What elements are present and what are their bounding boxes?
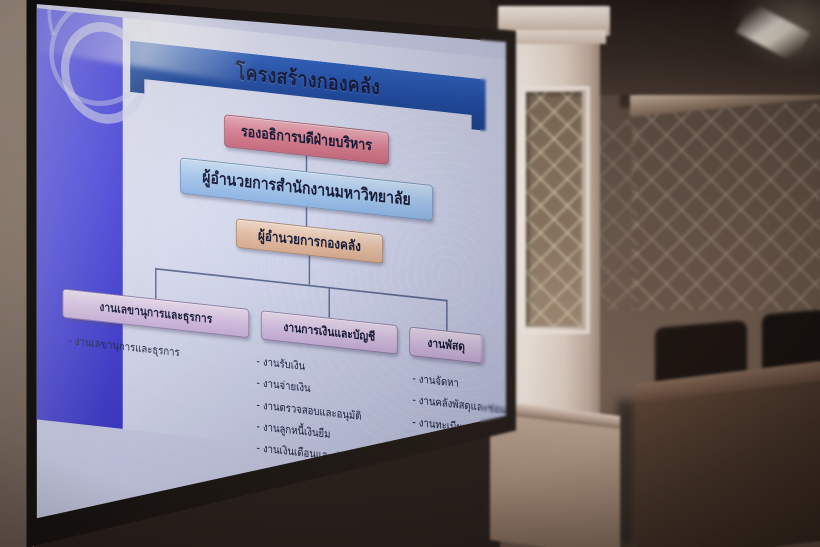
org-node-finance-accounting: งานการเงินและบัญชี bbox=[261, 310, 398, 354]
connector-vertical bbox=[309, 256, 310, 285]
pillar-inset-frame bbox=[520, 86, 590, 334]
slide-canvas: โครงสร้างกองคลัง รองอธิการบดีฝ่ายบริหาร … bbox=[36, 8, 506, 471]
pillar-capital-lower bbox=[502, 30, 606, 44]
photo-scene: โครงสร้างกองคลัง รองอธิการบดีฝ่ายบริหาร … bbox=[0, 0, 820, 547]
connector-vertical bbox=[306, 156, 307, 172]
connector-drop bbox=[329, 287, 330, 318]
connector-vertical bbox=[306, 207, 307, 226]
connector-drop bbox=[155, 268, 156, 299]
presentation-display[interactable]: โครงสร้างกองคลัง รองอธิการบดีฝ่ายบริหาร … bbox=[34, 2, 506, 542]
wall-lattice-panel bbox=[632, 104, 820, 310]
desk-front-panel bbox=[636, 380, 820, 547]
connector-horizontal bbox=[155, 268, 448, 302]
slide-title: โครงสร้างกองคลัง bbox=[130, 41, 486, 118]
slide-sidebar bbox=[36, 8, 123, 429]
connector-drop bbox=[446, 300, 447, 331]
org-node-supplies: งานพัสดุ bbox=[409, 327, 483, 364]
